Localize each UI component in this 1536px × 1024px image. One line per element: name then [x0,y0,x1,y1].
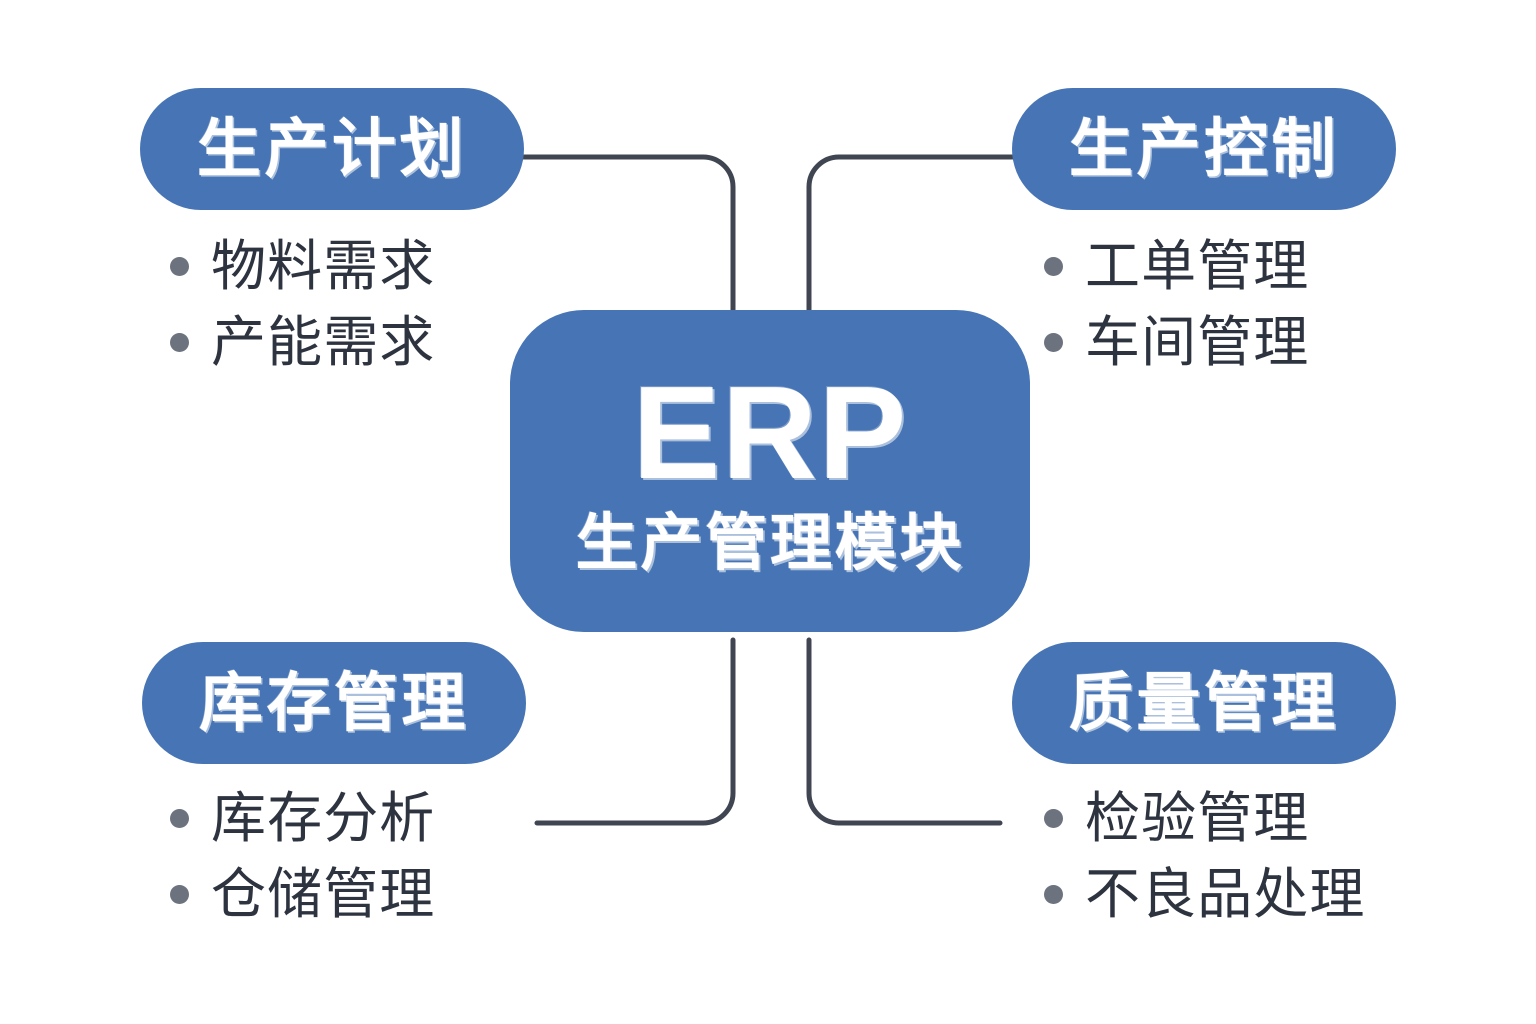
bullet-dot-icon [170,333,189,352]
branch-items-quality-management: 检验管理 不良品处理 [1044,780,1366,932]
bullet-label: 车间管理 [1085,315,1309,370]
branch-items-production-planning: 物料需求 产能需求 [170,228,435,380]
list-item[interactable]: 产能需求 [170,304,435,380]
list-item[interactable]: 车间管理 [1044,304,1309,380]
branch-label-production-planning: 生产计划 [197,117,467,181]
branch-node-production-planning[interactable]: 生产计划 [140,88,524,210]
branch-label-inventory-management: 库存管理 [199,671,469,735]
branch-items-inventory-management: 库存分析 仓储管理 [170,780,435,932]
list-item[interactable]: 库存分析 [170,780,435,856]
bullet-dot-icon [170,809,189,828]
bullet-dot-icon [1044,885,1063,904]
bullet-label: 工单管理 [1085,239,1309,294]
bullet-dot-icon [170,257,189,276]
bullet-label: 物料需求 [211,239,435,294]
list-item[interactable]: 工单管理 [1044,228,1309,304]
connector-top-left [523,157,733,330]
list-item[interactable]: 不良品处理 [1044,856,1366,932]
bullet-label: 不良品处理 [1085,867,1366,922]
bullet-label: 仓储管理 [211,867,435,922]
branch-label-production-control: 生产控制 [1069,117,1339,181]
bullet-label: 检验管理 [1085,791,1309,846]
branch-label-quality-management: 质量管理 [1069,671,1339,735]
connector-top-right [809,157,1013,330]
bullet-dot-icon [170,885,189,904]
connector-bottom-right [809,640,1000,823]
branch-node-production-control[interactable]: 生产控制 [1012,88,1396,210]
bullet-label: 产能需求 [211,315,435,370]
list-item[interactable]: 检验管理 [1044,780,1366,856]
connector-bottom-left [537,640,733,823]
bullet-label: 库存分析 [211,791,435,846]
branch-node-inventory-management[interactable]: 库存管理 [142,642,526,764]
hub-subtitle: 生产管理模块 [576,513,965,575]
hub-title: ERP [632,367,907,499]
bullet-dot-icon [1044,257,1063,276]
branch-node-quality-management[interactable]: 质量管理 [1012,642,1396,764]
list-item[interactable]: 仓储管理 [170,856,435,932]
diagram-canvas: ERP 生产管理模块 生产计划 物料需求 产能需求 生产控制 工单管理 车间管理… [0,0,1536,1024]
branch-items-production-control: 工单管理 车间管理 [1044,228,1309,380]
bullet-dot-icon [1044,333,1063,352]
list-item[interactable]: 物料需求 [170,228,435,304]
hub-node-erp[interactable]: ERP 生产管理模块 [510,310,1030,632]
bullet-dot-icon [1044,809,1063,828]
